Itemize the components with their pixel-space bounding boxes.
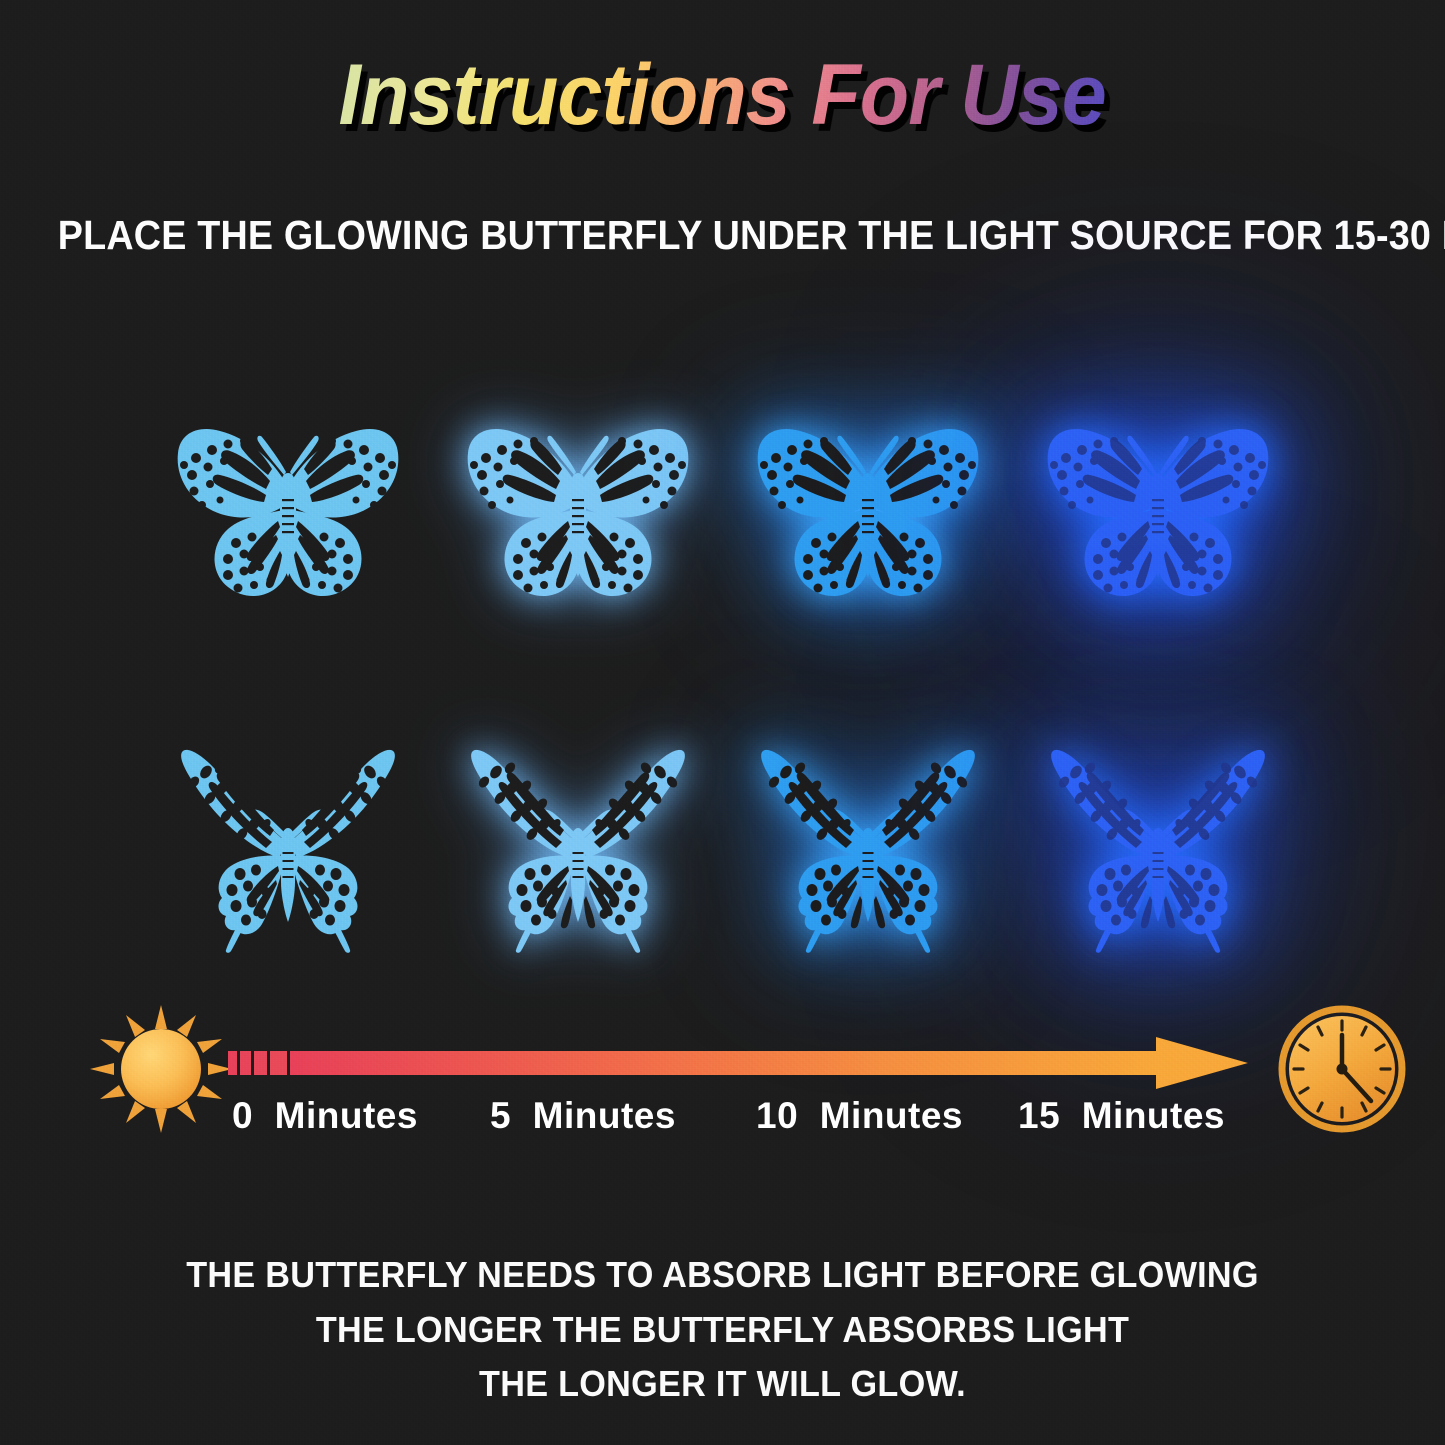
tick-label-5: 5 Minutes — [490, 1095, 676, 1137]
page-title: Instructions For Use — [339, 52, 1106, 138]
butterfly-monarch-stage-15 — [1013, 417, 1303, 613]
timeline-tick-labels: 0 Minutes 5 Minutes 10 Minutes 15 Minute… — [0, 1095, 1445, 1151]
butterfly-monarch-stage-10 — [723, 417, 1013, 613]
tick-unit-15: Minutes — [1082, 1095, 1225, 1136]
tick-value-0: 0 — [232, 1095, 253, 1136]
poster-canvas: Instructions For Use PLACE THE GLOWING B… — [0, 0, 1445, 1445]
tick-unit-5: Minutes — [533, 1095, 676, 1136]
tick-value-10: 10 — [756, 1095, 798, 1136]
subtitle-instruction: PLACE THE GLOWING BUTTERFLY UNDER THE LI… — [58, 212, 1387, 259]
tick-unit-0: Minutes — [275, 1095, 418, 1136]
butterfly-swallowtail-stage-10 — [723, 732, 1013, 954]
butterfly-monarch-stage-5 — [433, 417, 723, 613]
footer-line-1: THE BUTTERFLY NEEDS TO ABSORB LIGHT BEFO… — [36, 1248, 1409, 1303]
butterfly-monarch-stage-0 — [143, 417, 433, 613]
butterfly-swallowtail-stage-5 — [433, 732, 723, 954]
tick-value-15: 15 — [1018, 1095, 1060, 1136]
butterfly-swallowtail-stage-15 — [1013, 732, 1303, 954]
tick-label-10: 10 Minutes — [756, 1095, 963, 1137]
butterfly-swallowtail-stage-0 — [143, 732, 433, 954]
tick-unit-10: Minutes — [820, 1095, 963, 1136]
footer-line-2: THE LONGER THE BUTTERFLY ABSORBS LIGHT — [36, 1303, 1409, 1358]
butterfly-row-monarch — [0, 400, 1445, 630]
tick-label-0: 0 Minutes — [232, 1095, 418, 1137]
title-area: Instructions For Use — [0, 52, 1445, 138]
footer-description: THE BUTTERFLY NEEDS TO ABSORB LIGHT BEFO… — [36, 1248, 1409, 1412]
exposure-timeline: 0 Minutes 5 Minutes 10 Minutes 15 Minute… — [0, 995, 1445, 1155]
time-progress-arrow — [228, 1037, 1250, 1089]
tick-label-15: 15 Minutes — [1018, 1095, 1225, 1137]
butterfly-row-swallowtail — [0, 718, 1445, 968]
tick-value-5: 5 — [490, 1095, 511, 1136]
footer-line-3: THE LONGER IT WILL GLOW. — [36, 1357, 1409, 1412]
